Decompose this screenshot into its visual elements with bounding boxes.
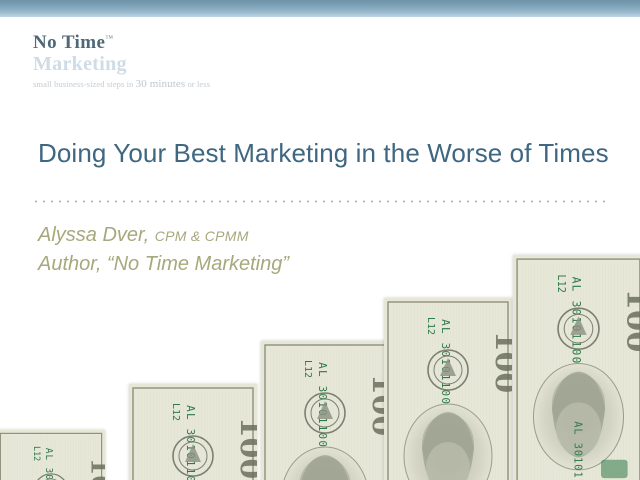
logo-brand-line-2: Marketing — [33, 54, 293, 75]
logo-tagline: small business-sized steps in 30 minutes… — [33, 78, 293, 90]
svg-text:100: 100 — [233, 417, 257, 480]
tagline-highlight: 30 minutes — [136, 78, 186, 90]
subtitle-block: Alyssa Dver, CPM & CPMM Author, “No Time… — [38, 221, 558, 279]
svg-text:100: 100 — [86, 458, 106, 480]
presentation-slide: No Time™ Marketing small business-sized … — [0, 0, 640, 480]
svg-text:AL 30101100 B: AL 30101100 B — [43, 448, 54, 480]
bill-artwork: 100 AL 30101100 B L12 — [261, 341, 389, 480]
svg-text:L12: L12 — [170, 403, 181, 421]
svg-text:AL 30101100 B: AL 30101100 B — [439, 319, 452, 421]
bill-artwork: 100 AL 30101100 B L12 — [129, 384, 257, 480]
hundred-dollar-bill-4: 100 AL 30101100 B L12 — [384, 298, 512, 480]
svg-text:100: 100 — [365, 374, 389, 437]
svg-text:AL 30101100 B: AL 30101100 B — [184, 405, 197, 480]
page-title: Doing Your Best Marketing in the Worse o… — [38, 136, 614, 171]
author-credentials: CPM & CPMM — [155, 228, 249, 244]
author-role: Author, “No Time Marketing” — [38, 250, 558, 279]
svg-text:100: 100 — [488, 331, 512, 394]
svg-text:AL 30101100 B: AL 30101100 B — [316, 362, 329, 464]
hundred-dollar-bill-5: 100 AL 30101100 B L12 AL 30101100 B — [513, 255, 640, 480]
hundred-dollar-bill-1: 100 AL 30101100 B L12 — [0, 430, 105, 480]
svg-text:L12: L12 — [32, 446, 42, 461]
brand-logo: No Time™ Marketing small business-sized … — [33, 33, 293, 90]
svg-text:L12: L12 — [302, 360, 313, 378]
trademark-icon: ™ — [105, 34, 113, 43]
tagline-prefix: small business-sized steps in — [33, 79, 136, 89]
svg-text:100: 100 — [620, 288, 640, 352]
dotted-divider — [32, 200, 610, 203]
svg-text:L12: L12 — [425, 317, 436, 335]
subtitle-author-line: Alyssa Dver, CPM & CPMM — [38, 221, 558, 250]
svg-text:AL 30101100 B: AL 30101100 B — [569, 277, 582, 381]
logo-brand-line-1: No Time™ — [33, 33, 114, 53]
hundred-dollar-bill-3: 100 AL 30101100 B L12 — [261, 341, 389, 480]
author-name: Alyssa Dver, — [38, 224, 149, 246]
logo-brand-text: No Time — [33, 32, 105, 53]
bill-artwork: 100 AL 30101100 B L12 — [384, 298, 512, 480]
tagline-suffix: or less — [185, 79, 210, 89]
bill-artwork: 100 AL 30101100 B L12 — [0, 430, 105, 480]
top-gradient-band — [0, 0, 640, 17]
svg-text:AL 30101100 B: AL 30101100 B — [571, 421, 582, 480]
hundred-dollar-bill-2: 100 AL 30101100 B L12 — [129, 384, 257, 480]
bill-artwork: 100 AL 30101100 B L12 AL 30101100 B — [513, 255, 640, 480]
